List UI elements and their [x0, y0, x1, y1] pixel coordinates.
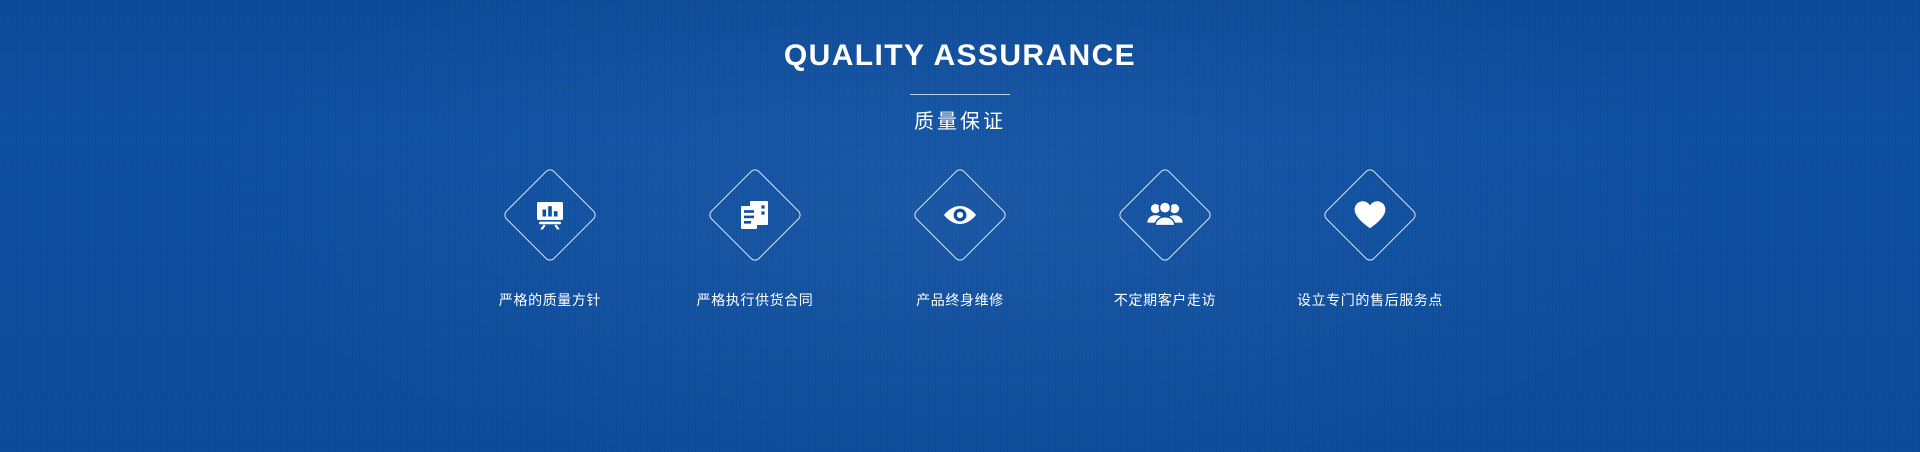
feature-label: 产品终身维修	[916, 290, 1004, 310]
feature-item-customer-visits[interactable]: 不定期客户走访	[1070, 166, 1260, 310]
feature-icon-frame	[501, 166, 599, 264]
documents-icon	[733, 193, 777, 237]
eye-icon	[938, 193, 982, 237]
feature-label: 严格的质量方针	[499, 290, 601, 310]
heart-icon	[1348, 193, 1392, 237]
feature-label: 设立专门的售后服务点	[1297, 290, 1443, 310]
feature-list: 严格的质量方针	[455, 166, 1465, 310]
page-title-chinese: 质量保证	[0, 109, 1920, 135]
presentation-chart-icon	[528, 193, 572, 237]
feature-label: 严格执行供货合同	[697, 290, 814, 310]
feature-label: 不定期客户走访	[1114, 290, 1216, 310]
feature-icon-frame	[706, 166, 804, 264]
users-group-icon	[1143, 193, 1187, 237]
title-divider	[910, 94, 1010, 95]
feature-item-supply-contract[interactable]: 严格执行供货合同	[660, 166, 850, 310]
feature-icon-frame	[911, 166, 1009, 264]
feature-item-lifetime-repair[interactable]: 产品终身维修	[865, 166, 1055, 310]
feature-item-quality-policy[interactable]: 严格的质量方针	[455, 166, 645, 310]
banner-header: QUALITY ASSURANCE 质量保证	[0, 38, 1920, 135]
feature-icon-frame	[1321, 166, 1419, 264]
feature-item-after-sales-service[interactable]: 设立专门的售后服务点	[1275, 166, 1465, 310]
page-title-english: QUALITY ASSURANCE	[0, 38, 1920, 74]
feature-icon-frame	[1116, 166, 1214, 264]
quality-assurance-banner: QUALITY ASSURANCE 质量保证	[0, 0, 1920, 452]
